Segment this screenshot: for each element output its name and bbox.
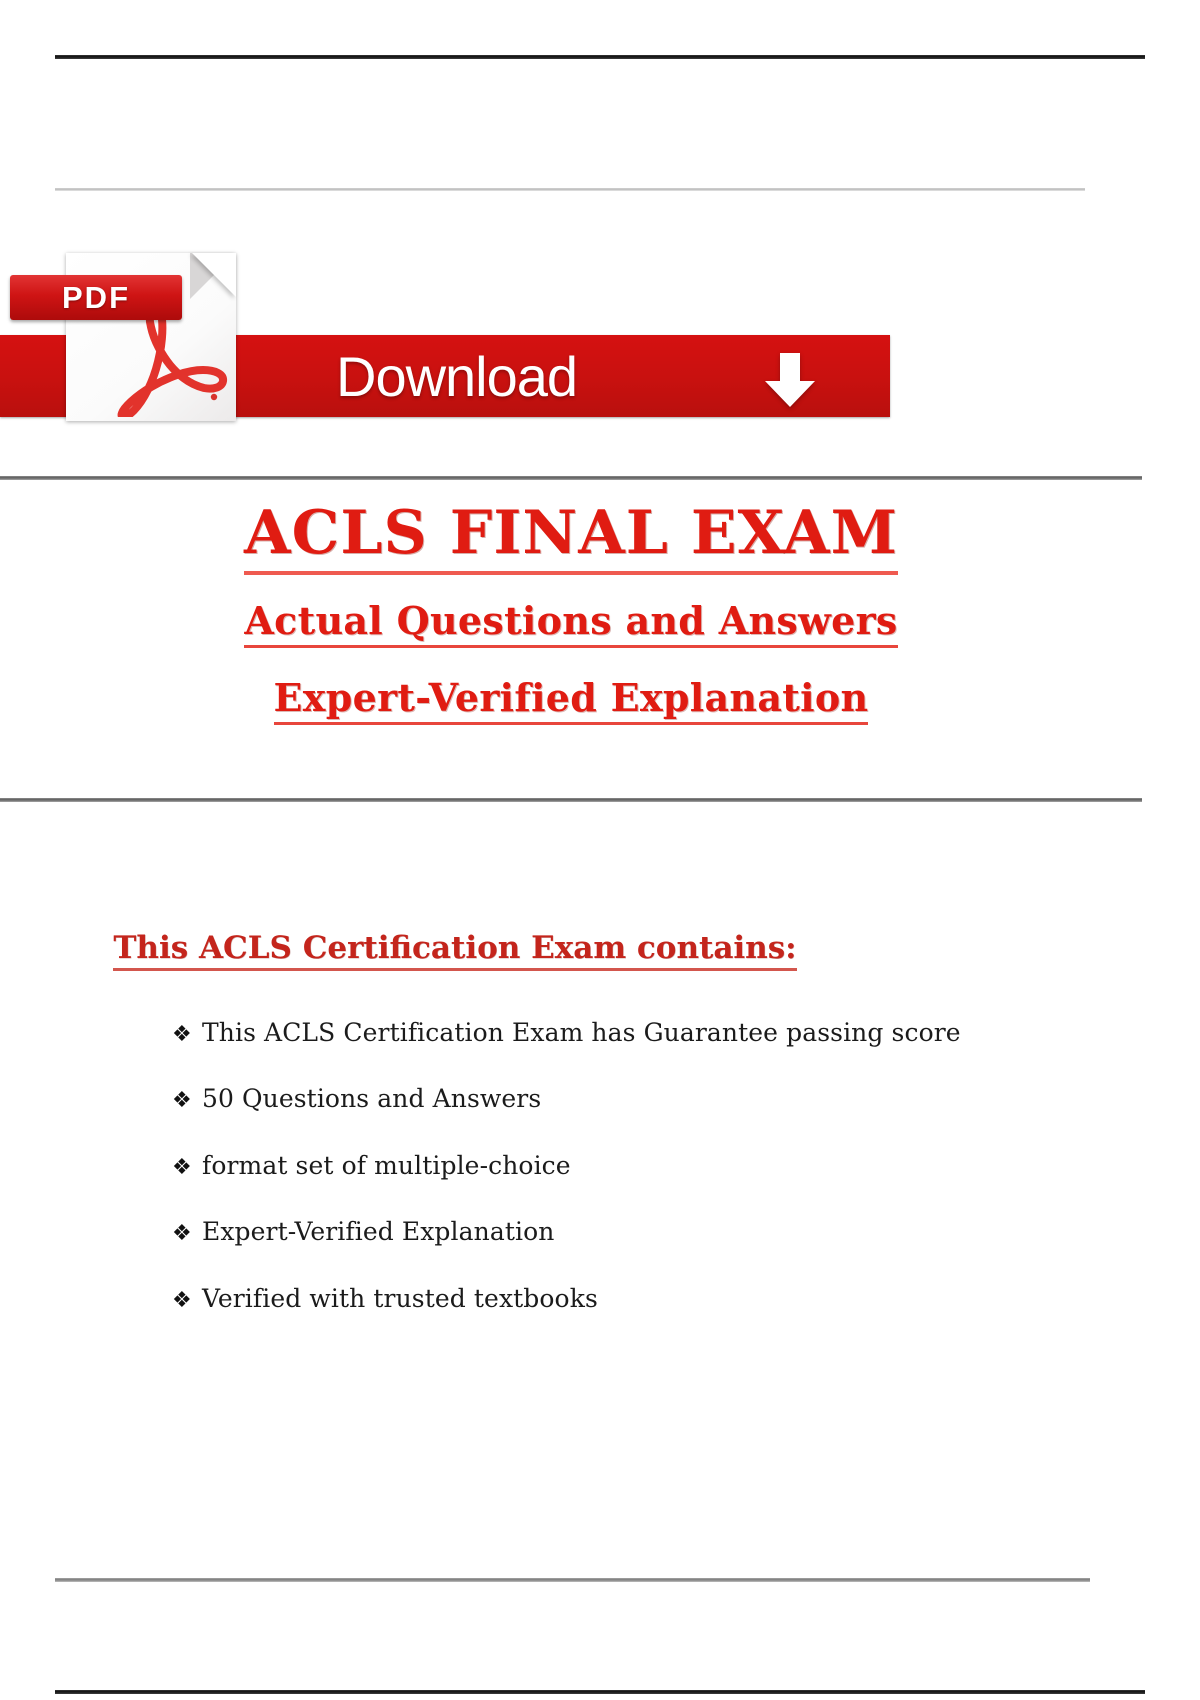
- list-item: ❖ 50 Questions and Answers: [172, 1084, 1072, 1114]
- header-light-divider-rule: [55, 188, 1085, 191]
- diamond-bullet-icon: ❖: [172, 1022, 202, 1048]
- download-banner[interactable]: Download PDF: [0, 248, 900, 428]
- list-item: ❖ Verified with trusted textbooks: [172, 1284, 1072, 1314]
- bottom-divider-rule: [55, 1690, 1145, 1694]
- download-button-label: Download: [336, 346, 756, 408]
- list-item-label: Expert-Verified Explanation: [202, 1217, 1072, 1247]
- diamond-bullet-icon: ❖: [172, 1288, 202, 1314]
- list-item: ❖ format set of multiple-choice: [172, 1151, 1072, 1181]
- page-subtitle-2-text: Expert-Verified Explanation: [274, 675, 869, 725]
- list-item-label: 50 Questions and Answers: [202, 1084, 1072, 1114]
- page-title: ACLS FINAL EXAM: [0, 480, 1142, 566]
- list-item-label: This ACLS Certification Exam has Guarant…: [202, 1018, 1072, 1048]
- pdf-badge-label: PDF: [10, 275, 182, 320]
- list-item: ❖ Expert-Verified Explanation: [172, 1217, 1072, 1247]
- diamond-bullet-icon: ❖: [172, 1088, 202, 1114]
- footer-divider-rule: [55, 1578, 1090, 1582]
- contains-heading: This ACLS Certification Exam contains:: [0, 930, 910, 966]
- contains-heading-text: This ACLS Certification Exam contains:: [113, 930, 796, 971]
- page-subtitle-1: Actual Questions and Answers: [0, 566, 1142, 642]
- page-subtitle-1-text: Actual Questions and Answers: [244, 598, 897, 648]
- page-subtitle-2: Expert-Verified Explanation: [0, 641, 1142, 719]
- page-title-text: ACLS FINAL EXAM: [244, 498, 898, 575]
- diamond-bullet-icon: ❖: [172, 1155, 202, 1181]
- list-item-label: Verified with trusted textbooks: [202, 1284, 1072, 1314]
- list-item-label: format set of multiple-choice: [202, 1151, 1072, 1181]
- pdf-fold-corner: [192, 253, 236, 297]
- feature-list: ❖ This ACLS Certification Exam has Guara…: [172, 1018, 1072, 1350]
- diamond-bullet-icon: ❖: [172, 1221, 202, 1247]
- title-band-bottom-rule: [0, 798, 1142, 802]
- download-arrow-icon: [762, 351, 818, 409]
- pdf-file-icon: PDF: [66, 253, 236, 421]
- title-block: ACLS FINAL EXAM Actual Questions and Ans…: [0, 480, 1142, 796]
- top-divider-rule: [55, 55, 1145, 59]
- list-item: ❖ This ACLS Certification Exam has Guara…: [172, 1018, 1072, 1048]
